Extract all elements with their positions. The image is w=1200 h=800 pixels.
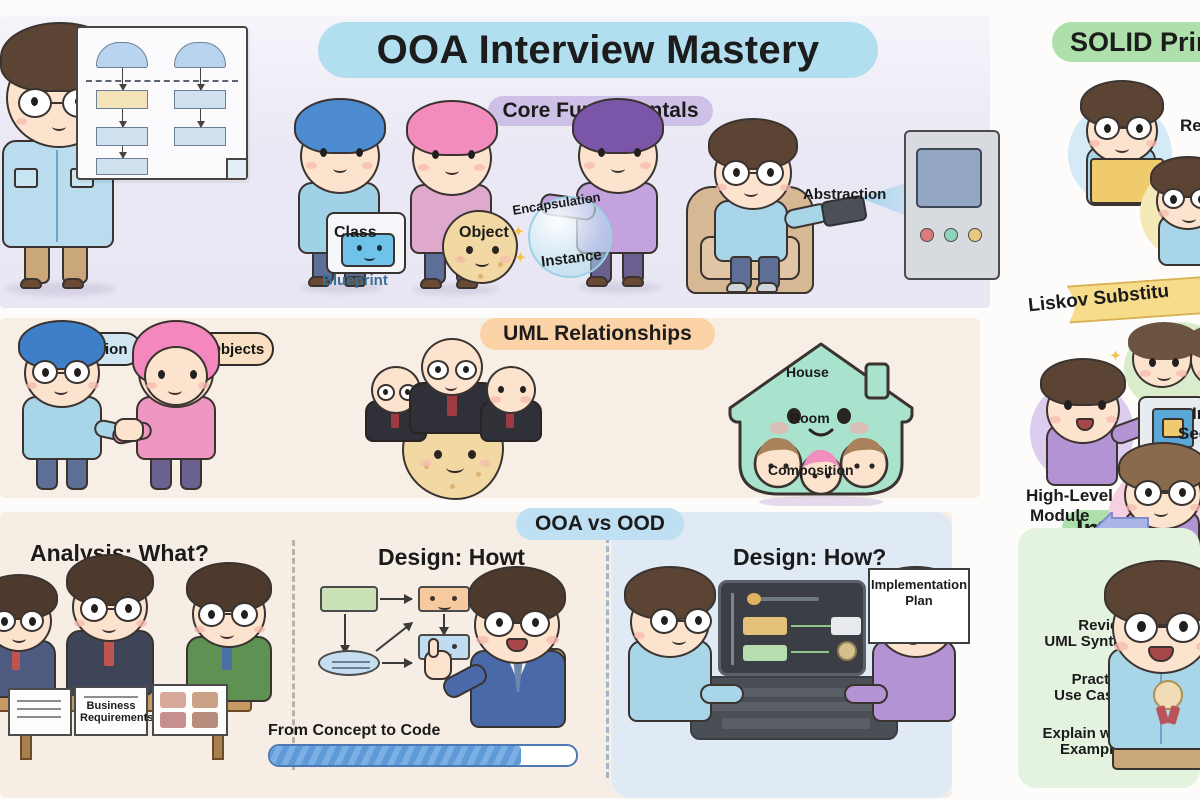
design-arrow-green-to-orange [380,598,412,600]
label-srp: Res [1180,116,1200,136]
label-house: House [786,364,829,380]
page-title-text: OOA Interview Mastery [377,28,820,73]
tv-button-green [944,228,958,242]
section-heading-uml-relationships: UML Relationships [480,318,715,350]
lsp-face-a [1132,330,1192,388]
tv-button-red [920,228,934,242]
infographic-canvas: OOA Interview Mastery Core Fundamentals … [0,0,1200,800]
charts-document-right [152,684,228,736]
implementation-plan-line1: Implementation [870,578,968,593]
page-title: OOA Interview Mastery [318,22,878,78]
label-object: Object [459,224,509,242]
label-high-level-module-line1: High-Level [1026,486,1113,506]
panel-title-design-how: Design: How? [733,544,886,571]
class-blueprint-tablet [326,212,406,274]
label-composition: Composition [768,462,854,478]
object-cookie [442,210,518,284]
handshake [114,418,144,442]
sparkle-icon-2: ✦ [515,250,526,266]
progress-bar [268,744,578,767]
award-ribbon-on-shirt [1152,680,1184,724]
design-node-green [320,586,378,612]
design-node-ellipse [318,650,380,676]
label-room: Room [790,410,830,426]
label-business-requirements-line1: Business Requirements [80,700,142,724]
sparkle-icon-lsp: ✦ [1110,348,1121,364]
design-arrow-ellipse-to-blue [382,662,412,664]
section-heading-solid-principles: SOLID Princi [1052,22,1200,62]
implementation-plan-note: Implementation Plan [868,568,970,644]
design-arrow-orange-to-blue [443,614,445,628]
progress-label: From Concept to Code [268,722,440,740]
sparkle-icon-1: ✦ [513,224,524,240]
label-class: Class [334,224,377,242]
label-abstraction: Abstraction [803,186,886,203]
implementation-plan-line2: Plan [870,594,968,609]
label-high-level-module-line2: Module [1030,506,1090,526]
notes-document-left [8,688,72,736]
laptop-screen [718,580,866,676]
tv-button-yellow [968,228,982,242]
design-node-orange [418,586,470,612]
uml-diagram-poster [76,26,248,180]
label-isp-line2: Seg [1178,424,1200,444]
ooa-panel-divider-right [606,528,609,778]
section-heading-ooa-vs-ood: OOA vs OOD [516,508,684,540]
label-isp-line1: In [1192,404,1200,424]
design-arrow-down-1 [344,614,346,646]
label-blueprint: Blueprint [322,272,388,289]
tv-screen [916,148,982,208]
progress-bar-fill [270,746,521,765]
